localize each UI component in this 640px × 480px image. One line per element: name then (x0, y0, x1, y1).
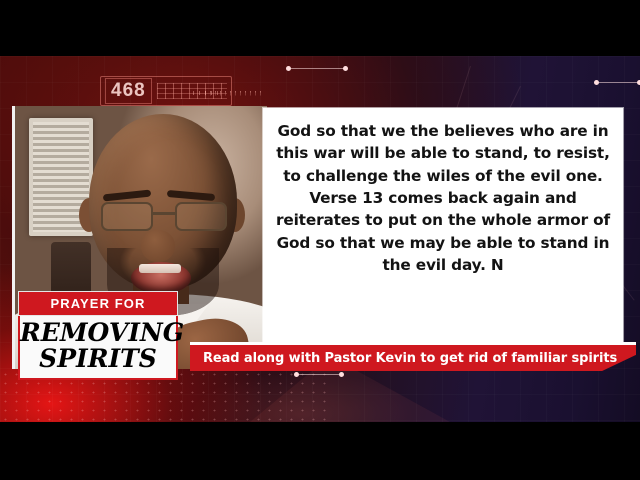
lower-third-banner: Read along with Pastor Kevin to get rid … (190, 345, 636, 371)
scripture-text: God so that we the believes who are in t… (269, 120, 617, 276)
speaker-glasses (101, 202, 227, 232)
title-lockup: PRAYER FOR REMOVING SPIRITS (18, 291, 178, 380)
letterbox-bar-bottom (0, 422, 640, 480)
title-kicker: PRAYER FOR (18, 291, 178, 316)
title-line-1: REMOVING (20, 320, 176, 346)
background-connector-line (296, 374, 342, 375)
title-main: REMOVING SPIRITS (18, 316, 178, 380)
background-connector-line (288, 68, 346, 69)
hud-counter-value: 468 (105, 78, 152, 104)
glasses-lens-right (175, 202, 227, 231)
glasses-bridge (153, 212, 175, 215)
lower-third-text: Read along with Pastor Kevin to get rid … (203, 351, 617, 366)
background-connector-line (596, 82, 640, 83)
speaker-teeth (139, 264, 181, 273)
glasses-lens-left (101, 202, 153, 231)
lower-third-accent-line (190, 342, 636, 345)
video-stage: 468 God so that we the beli (0, 0, 640, 480)
letterbox-bar-top (0, 0, 640, 56)
scripture-text-panel: God so that we the believes who are in t… (263, 108, 623, 342)
hud-cap-marks (193, 91, 223, 95)
title-line-2: SPIRITS (20, 346, 176, 372)
hud-counter-module: 468 (100, 76, 232, 106)
